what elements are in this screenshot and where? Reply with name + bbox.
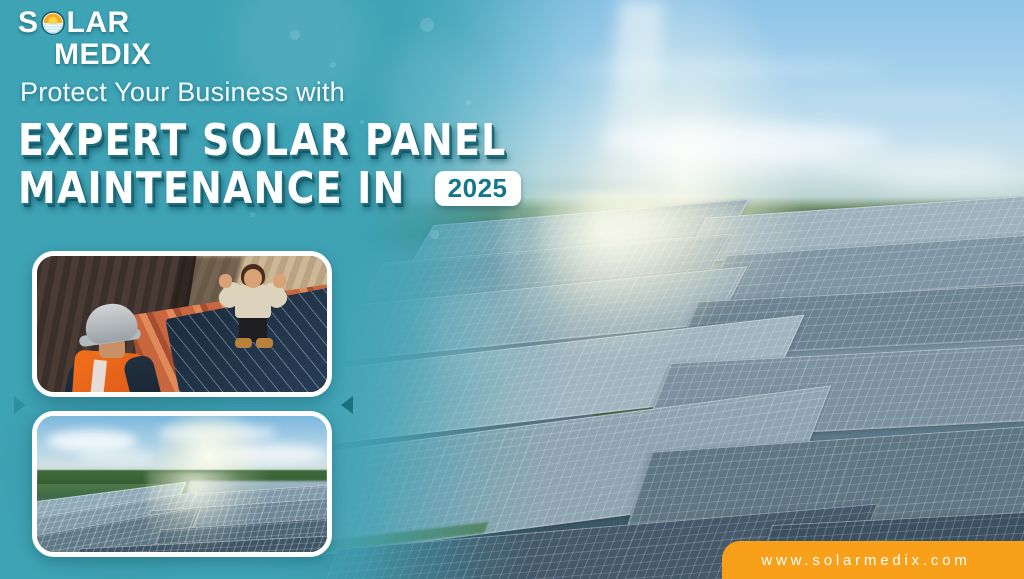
sun-over-water-icon: [40, 10, 66, 36]
customer-face: [244, 269, 262, 288]
speck: [330, 62, 336, 68]
customer-boot: [256, 338, 273, 348]
customer-sweater: [235, 284, 271, 318]
triangle-left-icon[interactable]: [341, 396, 353, 414]
website-tag[interactable]: www.solarmedix.com: [722, 541, 1024, 579]
brand-logo[interactable]: SOLAR S LAR MEDIX: [18, 8, 278, 70]
headline-line-2: MAINTENANCE IN: [18, 166, 406, 212]
logo-letters-lar: LAR: [67, 8, 130, 38]
speck: [466, 100, 471, 105]
customer-boot: [235, 338, 252, 348]
logo-line-1: SOLAR S LAR: [18, 8, 278, 38]
cloud: [47, 430, 137, 452]
headline-row-1: EXPERT SOLAR PANEL: [18, 118, 586, 164]
promotional-banner: SOLAR S LAR MEDIX Protect Your Business …: [0, 0, 1024, 579]
headline-row-2: MAINTENANCE IN 2025: [18, 166, 586, 212]
speck: [430, 230, 439, 239]
technician-figure: [71, 304, 171, 397]
thumbs-up-hand: [273, 274, 286, 288]
roof-maintenance-photo[interactable]: [32, 251, 332, 397]
solar-farm-photo[interactable]: [32, 411, 332, 557]
thumbs-up-hand: [219, 274, 232, 288]
speck: [420, 18, 434, 32]
cloud: [77, 450, 157, 464]
logo-line-2: MEDIX: [54, 40, 278, 70]
logo-letter-s: S: [18, 8, 39, 38]
worker-arm-right: [122, 353, 166, 397]
speck: [290, 30, 300, 40]
panel-reflection-glare: [147, 470, 267, 550]
year-badge: 2025: [435, 171, 521, 206]
work-glove: [144, 393, 173, 397]
headline-block: EXPERT SOLAR PANEL MAINTENANCE IN 2025: [18, 118, 586, 212]
website-url: www.solarmedix.com: [761, 552, 970, 569]
headline-line-1: EXPERT SOLAR PANEL: [18, 118, 507, 164]
eyebrow-text: Protect Your Business with: [20, 77, 345, 108]
triangle-right-icon[interactable]: [14, 396, 26, 414]
customer-figure: [223, 264, 283, 348]
